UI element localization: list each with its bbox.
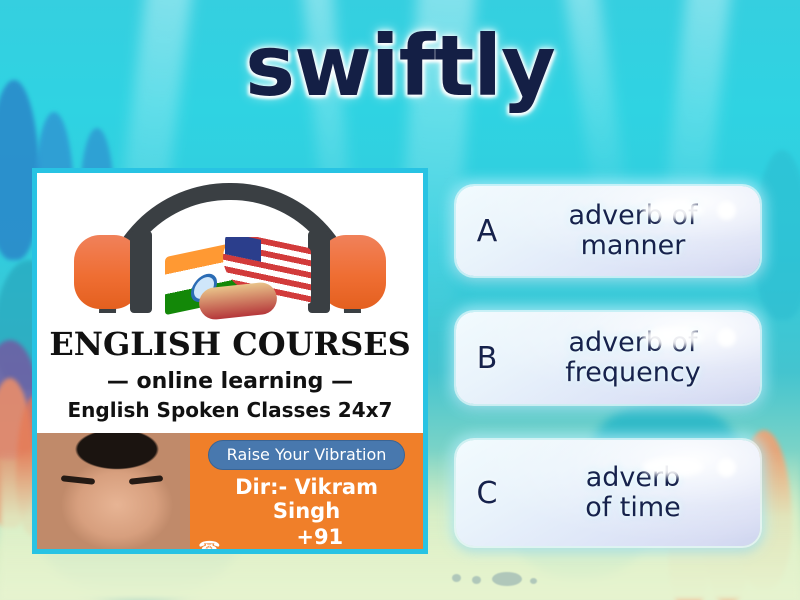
gloss-dot-icon	[717, 458, 736, 477]
card-subheading: — online learning —	[37, 369, 423, 394]
phone-number: +91 8901540861	[225, 525, 415, 554]
gloss-highlight-icon	[642, 327, 704, 347]
instructor-portrait-image	[37, 433, 190, 549]
portrait-brow-right	[129, 475, 163, 485]
gloss-highlight-icon	[642, 457, 704, 477]
flag-handshake-icon	[165, 237, 311, 321]
gloss-dot-icon	[717, 328, 736, 347]
portrait-brow-left	[61, 475, 95, 485]
phone-row[interactable]: ☎ +91 8901540861	[198, 525, 415, 554]
answer-option-a[interactable]: A adverb of manner	[456, 186, 760, 276]
course-logo	[37, 173, 423, 323]
contact-block: Raise Your Vibration Dir:- Vikram Singh …	[190, 433, 423, 549]
headphone-bar-right-icon	[308, 231, 330, 313]
answer-option-c[interactable]: C adverb of time	[456, 440, 760, 546]
card-heading: ENGLISH COURSES	[37, 325, 423, 363]
director-name: Dir:- Vikram Singh	[198, 475, 415, 523]
answer-option-b[interactable]: B adverb of frequency	[456, 312, 760, 404]
promo-card: ENGLISH COURSES — online learning — Engl…	[32, 168, 428, 554]
question-word: swiftly	[0, 24, 800, 108]
slogan-badge: Raise Your Vibration	[208, 440, 406, 470]
headphone-bar-left-icon	[130, 231, 152, 313]
usa-flag-canton-icon	[225, 237, 261, 262]
card-footer: Raise Your Vibration Dir:- Vikram Singh …	[37, 433, 423, 549]
card-tagline: English Spoken Classes 24x7	[37, 398, 423, 422]
instructor-photo	[37, 433, 190, 549]
answer-letter-c: C	[456, 476, 518, 511]
phone-icon: ☎	[198, 540, 220, 554]
answer-letter-b: B	[456, 341, 518, 376]
answer-letter-a: A	[456, 214, 518, 249]
quiz-slide: swiftly A adverb of manner B adverb of f…	[0, 0, 800, 600]
